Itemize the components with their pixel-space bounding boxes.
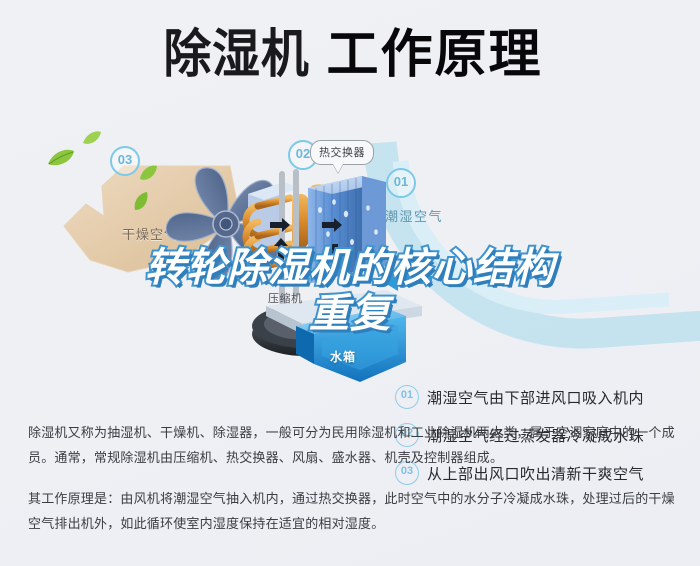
page-title-part1: 除湿机 [164, 26, 310, 84]
infographic-page: 除湿机工作原理 干燥空气 [0, 0, 700, 566]
illustration-stage: 干燥空气 03 02 01 [0, 126, 700, 398]
compressor-label: 压缩机 [268, 290, 303, 306]
leaf-icon-3 [138, 164, 158, 182]
water-tank-label: 水箱 [330, 348, 356, 365]
page-title-part2: 工作原理 [327, 26, 543, 84]
legend-item-01: 01 潮湿空气由下部进风口吸入机内 [395, 378, 695, 416]
legend-num-01: 01 [395, 385, 419, 409]
page-title: 除湿机工作原理 [0, 26, 700, 84]
paragraph-principle: 其工作原理是：由风机将潮湿空气抽入机内，通过热交换器，此时空气中的水分子冷凝成水… [28, 486, 676, 536]
leaf-icon-1 [46, 148, 76, 168]
leaf-icon-4 [132, 192, 150, 212]
diagram-badge-03: 03 [110, 146, 140, 176]
humid-air-label: 潮湿空气 [385, 206, 443, 225]
legend-text-01: 潮湿空气由下部进风口吸入机内 [427, 387, 644, 408]
paragraph-definition: 除湿机又称为抽湿机、干燥机、除湿器，一般可分为民用除湿机和工业除湿机两大类，属于… [28, 420, 676, 470]
leaf-icon-2 [82, 130, 102, 146]
